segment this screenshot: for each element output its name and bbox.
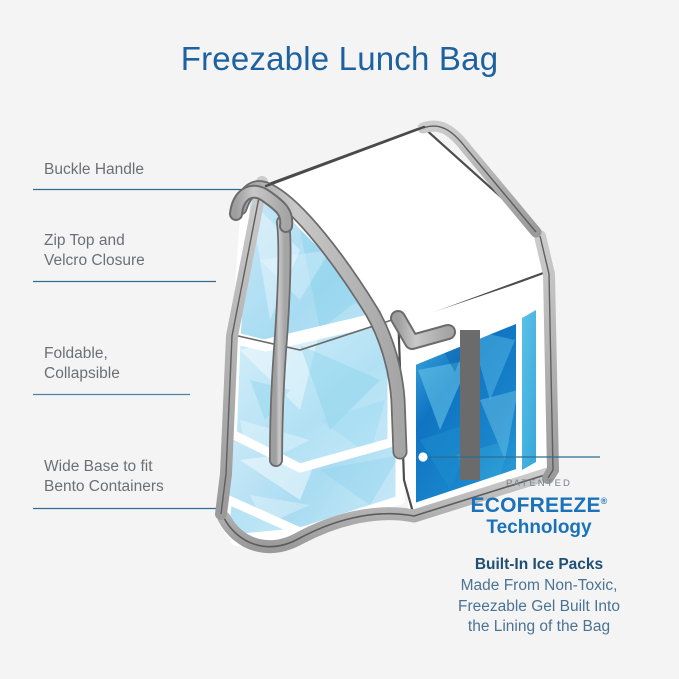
- description-line-2: Freezable Gel Built Into: [399, 597, 679, 618]
- brand-text: ECOFREEZE: [471, 494, 601, 517]
- feature-label-line2: Velcro Closure: [44, 251, 145, 271]
- feature-label-line1: Buckle Handle: [44, 160, 144, 180]
- infographic-canvas: Freezable Lunch Bag Buckle Handle Zip To…: [0, 0, 679, 679]
- ecofreeze-callout-dot: [418, 452, 427, 461]
- description-line-1: Made From Non-Toxic,: [399, 576, 679, 597]
- description-body: Made From Non-Toxic, Freezable Gel Built…: [399, 576, 679, 638]
- patented-label: PATENTED: [399, 478, 679, 489]
- ecofreeze-badge-block: PATENTED ECOFREEZE® Technology Built-In …: [399, 478, 679, 638]
- ecofreeze-brand-subtitle: Technology: [399, 517, 679, 539]
- description-heading: Built-In Ice Packs: [399, 556, 679, 574]
- feature-label-line2: Collapsible: [44, 364, 120, 384]
- feature-label-line1: Wide Base to fit: [44, 457, 164, 477]
- feature-label-wide-base: Wide Base to fit Bento Containers: [44, 457, 164, 497]
- registered-trademark-icon: ®: [601, 496, 608, 506]
- feature-label-buckle-handle: Buckle Handle: [44, 160, 144, 180]
- description-line-3: the Lining of the Bag: [399, 617, 679, 638]
- feature-label-foldable: Foldable, Collapsible: [44, 344, 120, 384]
- feature-label-zip-velcro: Zip Top and Velcro Closure: [44, 231, 145, 271]
- page-title: Freezable Lunch Bag: [0, 40, 679, 78]
- feature-label-line2: Bento Containers: [44, 477, 164, 497]
- feature-label-line1: Zip Top and: [44, 231, 145, 251]
- feature-label-line1: Foldable,: [44, 344, 120, 364]
- ecofreeze-brand-name: ECOFREEZE®: [471, 494, 608, 518]
